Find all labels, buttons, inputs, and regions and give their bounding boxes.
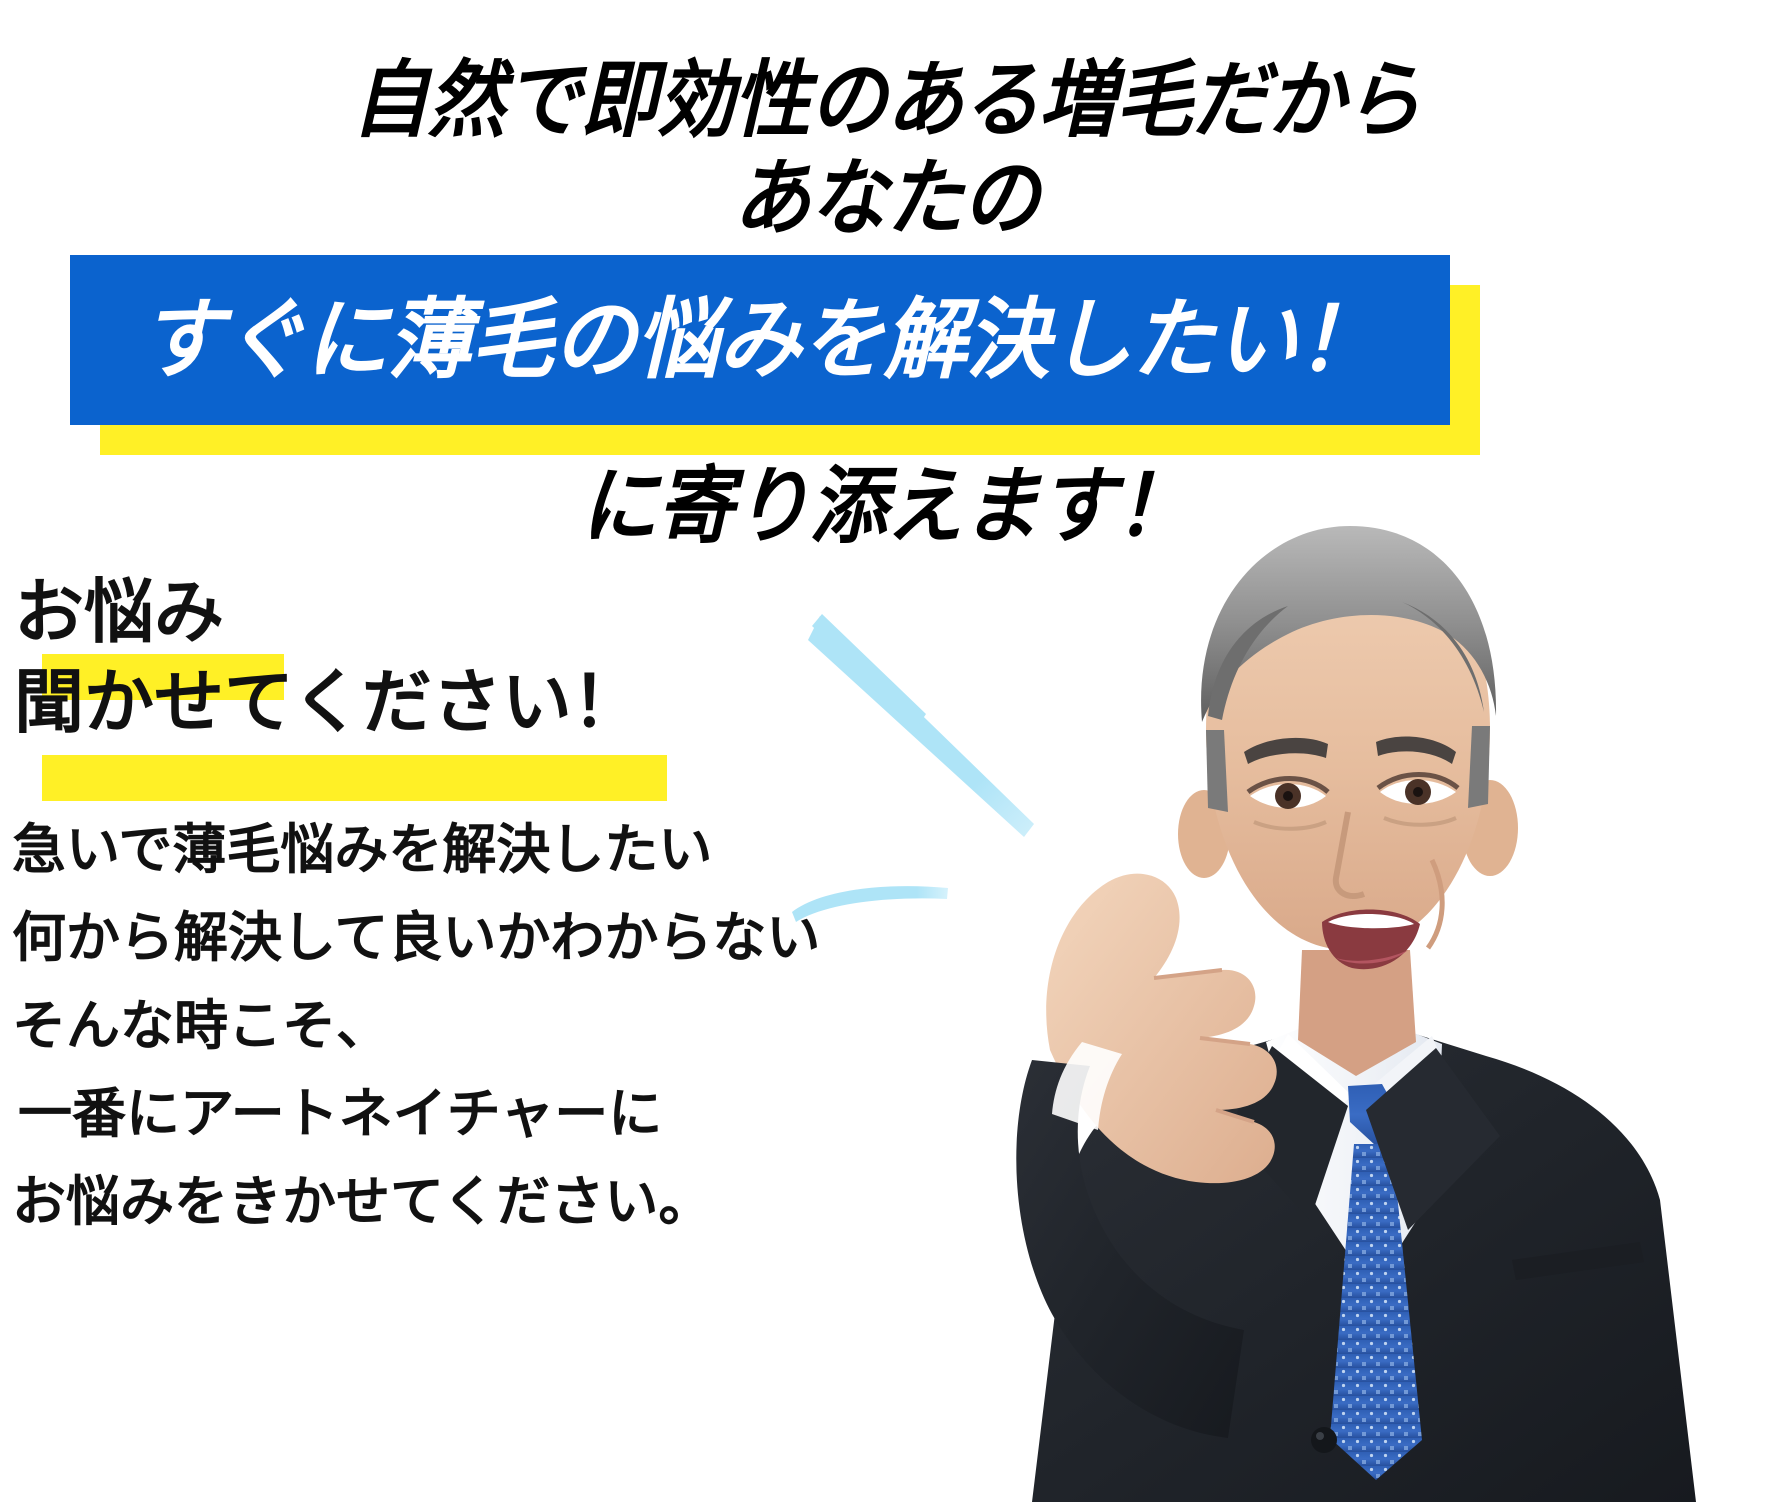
lead-copy-block: お悩み 聞かせてください！ — [12, 570, 892, 744]
body-copy-block: 急いで薄毛悩みを解決したい 何から解決して良いかわからない そんな時こそ、 一番… — [12, 806, 912, 1246]
yellow-highlight-bar-2 — [42, 755, 667, 801]
lead-line-2-text: 聞かせてください！ — [14, 663, 642, 741]
banner-text: すぐに薄毛の悩みを解決したい！ — [140, 290, 1380, 390]
lead-line-1-text: お悩み — [14, 573, 224, 651]
headline-line-1: 自然で即効性のある増毛だから — [71, 52, 1701, 148]
hand — [1046, 874, 1277, 1184]
body-line: 何から解決して良いかわからない — [12, 894, 912, 982]
banner-blue-panel: すぐに薄毛の悩みを解決したい！ — [70, 255, 1450, 425]
body-line: そんな時こそ、 — [12, 982, 912, 1070]
lead-line-1: お悩み — [14, 570, 892, 654]
body-line: 一番にアートネイチャーに — [12, 1070, 912, 1158]
lead-line-2: 聞かせてください！ — [14, 660, 892, 744]
body-line: お悩みをきかせてください。 — [12, 1158, 912, 1246]
body-line: 急いで薄毛悩みを解決したい — [12, 806, 912, 894]
spokesperson-photo — [836, 430, 1772, 1502]
highlight-banner: すぐに薄毛の悩みを解決したい！ — [70, 255, 1470, 455]
promo-page: 自然で即効性のある増毛だから あなたの すぐに薄毛の悩みを解決したい！ に寄り添… — [0, 0, 1772, 1502]
headline-line-2: あなたの — [71, 150, 1701, 246]
